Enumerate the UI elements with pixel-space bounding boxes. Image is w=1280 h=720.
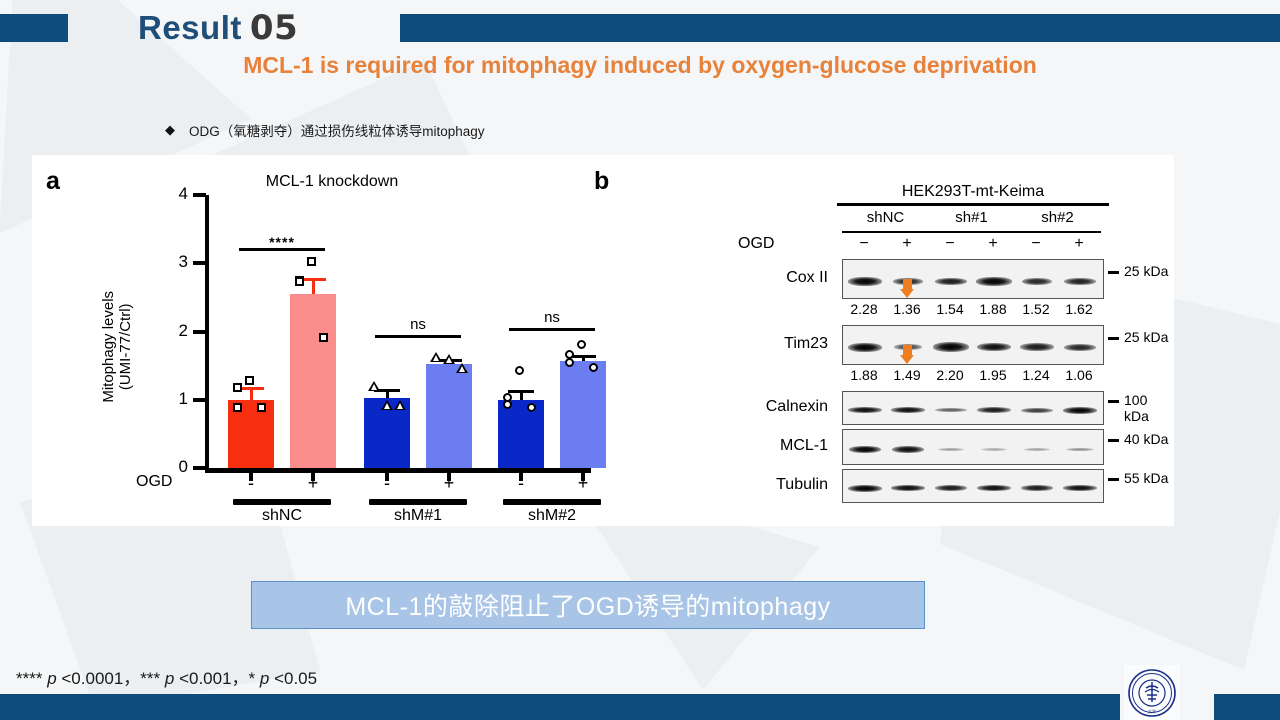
blot-quantification-value: 1.62 (1057, 301, 1101, 317)
ogd-sign: - (238, 473, 264, 494)
result-number: 05 (250, 8, 298, 48)
blot-quantification-value: 1.49 (885, 367, 929, 383)
blot-band (977, 407, 1011, 413)
data-point (456, 363, 468, 373)
chart-title: MCL-1 knockdown (207, 173, 457, 191)
data-point (233, 383, 242, 392)
kda-label: 55 kDa (1124, 470, 1168, 486)
blot-band (892, 446, 924, 453)
y-tick (193, 261, 206, 265)
blot-band-row (842, 469, 1104, 503)
blot-band (935, 408, 967, 412)
blot-quantification-value: 2.28 (842, 301, 886, 317)
blot-ogd-sign: − (1023, 235, 1049, 253)
blot-sh-rule (1014, 231, 1101, 233)
ogd-sign: + (436, 473, 462, 494)
blot-sh-label: shNC (838, 209, 933, 226)
group-label: shM#2 (503, 507, 601, 525)
blot-band (848, 343, 882, 352)
y-tick (193, 193, 206, 197)
page-title: Result05 (138, 8, 298, 48)
blot-band (1063, 485, 1097, 491)
blot-band (933, 342, 969, 352)
group-bar (503, 499, 601, 505)
significance-line (375, 335, 461, 338)
chart-y-axis-label: Mitophagy levels (UMI-77/Ctrl) (101, 252, 135, 442)
chart-ogd-label: OGD (136, 473, 172, 491)
significance-label: ns (509, 309, 595, 326)
blot-quantification-value: 2.20 (928, 367, 972, 383)
slide-subtitle: MCL-1 is required for mitophagy induced … (0, 52, 1280, 79)
data-point (527, 403, 536, 412)
blot-band (938, 448, 964, 451)
data-point (295, 277, 304, 286)
data-point (430, 352, 442, 362)
kda-tick (1108, 337, 1119, 340)
blot-quantification-value: 1.54 (928, 301, 972, 317)
data-point (503, 393, 512, 402)
group-bar (369, 499, 467, 505)
error-bar-cap (300, 278, 326, 281)
y-tick-label: 3 (164, 252, 188, 272)
kda-tick (1108, 439, 1119, 442)
data-point (394, 400, 406, 410)
kda-label: 100 kDa (1124, 392, 1174, 424)
bullet-text: ODG（氧糖剥夺）通过损伤线粒体诱导mitophagy (189, 120, 485, 140)
blot-band (977, 343, 1011, 351)
bar-shnc (290, 294, 336, 468)
blot-row-label: Tim23 (692, 335, 828, 353)
data-point (368, 381, 380, 391)
blot-band (891, 485, 925, 491)
decrease-arrow-icon (900, 345, 914, 364)
kda-label: 40 kDa (1124, 431, 1168, 447)
data-point (515, 366, 524, 375)
data-point (381, 400, 393, 410)
blot-quantification-value: 1.06 (1057, 367, 1101, 383)
blot-band (848, 277, 882, 286)
western-blot: HEK293T-mt-Keima shNCsh#1sh#2 OGD −+−+−+… (592, 155, 1174, 526)
bar-shm2 (498, 400, 544, 468)
mitophagy-bar-chart: MCL-1 knockdown Mitophagy levels (UMI-77… (32, 155, 592, 526)
kda-tick (1108, 478, 1119, 481)
blot-band (977, 485, 1011, 491)
bar-shm1 (426, 364, 472, 468)
blot-band-row (842, 325, 1104, 365)
blot-ogd-sign: + (1066, 235, 1092, 253)
blot-quantification-value: 1.24 (1014, 367, 1058, 383)
kda-tick (1108, 400, 1119, 403)
significance-label: **** (239, 234, 325, 250)
blot-band (1021, 408, 1053, 413)
data-point (257, 403, 266, 412)
bullet-row: ◆ ODG（氧糖剥夺）通过损伤线粒体诱导mitophagy (165, 120, 485, 140)
blot-ogd-sign: + (980, 235, 1006, 253)
blot-band (976, 277, 1012, 286)
significance-line (509, 328, 595, 331)
group-label: shM#1 (369, 507, 467, 525)
y-tick-label: 2 (164, 321, 188, 341)
blot-band (1021, 485, 1053, 491)
significance-label: ns (375, 316, 461, 333)
y-tick-label: 1 (164, 389, 188, 409)
blot-band (849, 446, 881, 453)
blot-band (1064, 344, 1096, 351)
y-tick (193, 466, 206, 470)
ogd-sign: - (508, 473, 534, 494)
blot-ogd-label: OGD (738, 235, 774, 253)
blot-band (981, 448, 1007, 451)
group-bar (233, 499, 331, 505)
blot-row-label: Cox II (692, 269, 828, 287)
blot-sh-rule (928, 231, 1015, 233)
blot-sh-label: sh#1 (924, 209, 1019, 226)
p-value-footnote: **** p <0.0001，*** p <0.001，* p <0.05 (16, 664, 317, 689)
y-tick (193, 330, 206, 334)
blot-quantification-value: 1.95 (971, 367, 1015, 383)
error-bar-cap (238, 387, 264, 390)
header-accent-bar-right (400, 14, 1280, 42)
y-tick (193, 398, 206, 402)
ogd-sign: + (300, 473, 326, 494)
blot-row-label: Tubulin (692, 476, 828, 494)
blot-band (1064, 278, 1096, 285)
blot-band (848, 407, 882, 413)
blot-band (1024, 448, 1050, 451)
blot-band-row (842, 429, 1104, 465)
blot-band (1063, 407, 1097, 414)
result-label: Result (138, 9, 242, 46)
data-point (577, 340, 586, 349)
data-point (245, 376, 254, 385)
blot-quantification-value: 1.88 (971, 301, 1015, 317)
group-label: shNC (233, 507, 331, 525)
blot-ogd-sign: − (937, 235, 963, 253)
data-point (443, 354, 455, 364)
data-point (319, 333, 328, 342)
blot-band-row (842, 259, 1104, 299)
blot-band (935, 278, 967, 285)
data-point (565, 358, 574, 367)
chart-plot-area: ****nsns (209, 195, 591, 468)
data-point (307, 257, 316, 266)
blot-cell-line-label: HEK293T-mt-Keima (837, 183, 1109, 201)
footer-bar (0, 694, 1120, 720)
blot-band (1066, 448, 1094, 451)
blot-cell-line-rule (837, 203, 1109, 206)
y-tick-label: 4 (164, 184, 188, 204)
ogd-sign: - (374, 473, 400, 494)
blot-band-row (842, 391, 1104, 425)
kda-label: 25 kDa (1124, 263, 1168, 279)
blot-band (848, 485, 882, 492)
blot-sh-rule (842, 231, 929, 233)
diamond-bullet-icon: ◆ (165, 122, 175, 138)
blot-ogd-sign: + (894, 235, 920, 253)
error-bar-cap (508, 390, 534, 393)
blot-quantification-value: 1.88 (842, 367, 886, 383)
kda-tick (1108, 271, 1119, 274)
header-accent-block-left (0, 14, 68, 42)
blot-sh-label: sh#2 (1010, 209, 1105, 226)
conclusion-box: MCL-1的敲除阻止了OGD诱导的mitophagy (251, 581, 925, 629)
blot-quantification-value: 1.52 (1014, 301, 1058, 317)
figure-panel: a b MCL-1 knockdown Mitophagy levels (UM… (32, 155, 1174, 526)
blot-band (1022, 278, 1052, 285)
data-point (233, 403, 242, 412)
blot-row-label: MCL-1 (692, 437, 828, 455)
blot-band (935, 485, 967, 491)
svg-text:大学: 大学 (1148, 708, 1156, 714)
kda-label: 25 kDa (1124, 329, 1168, 345)
blot-row-label: Calnexin (692, 398, 828, 416)
blot-band (891, 407, 925, 413)
blot-band (1020, 343, 1054, 351)
university-seal-logo: 大学 (1124, 665, 1180, 720)
decrease-arrow-icon (900, 279, 914, 298)
blot-quantification-value: 1.36 (885, 301, 929, 317)
footer-bar-right (1214, 694, 1280, 720)
blot-ogd-sign: − (851, 235, 877, 253)
